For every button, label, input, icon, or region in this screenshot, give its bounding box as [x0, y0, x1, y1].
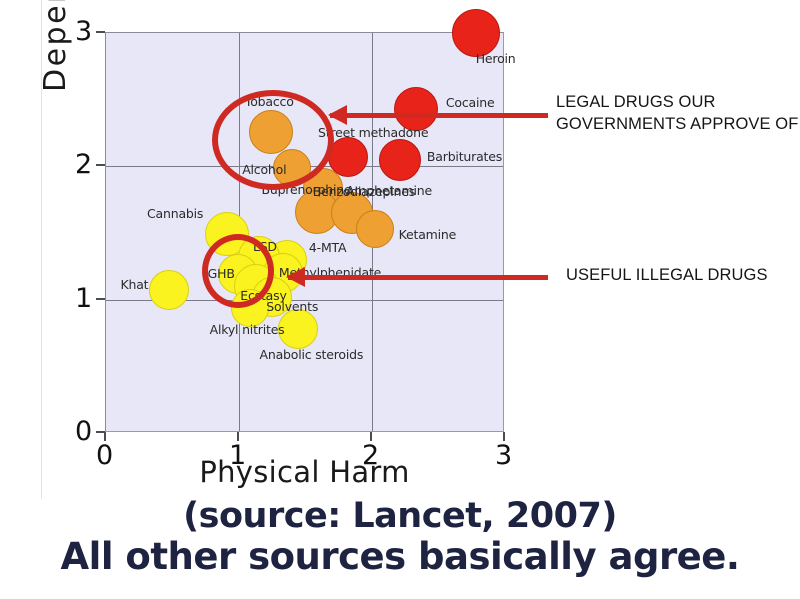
point-label-barbiturates: Barbiturates — [427, 151, 502, 164]
bubble-barbiturates — [379, 139, 421, 181]
point-label-4-mta: 4-MTA — [309, 242, 346, 255]
point-label-street-methadone: Street methadone — [318, 127, 428, 140]
useful-illegal-drugs-annotation-text: USEFUL ILLEGAL DRUGS — [566, 265, 768, 287]
legal-drugs-annotation-text: LEGAL DRUGS OUR GOVERNMENTS APPROVE OF — [556, 92, 798, 136]
caption-block: (source: Lancet, 2007) All other sources… — [0, 497, 800, 578]
legal-drugs-annotation-arrow-head — [328, 105, 347, 125]
scatter-plot-area: HeroinCocaineStreet methadoneBarbiturate… — [105, 32, 504, 432]
point-label-solvents: Solvents — [266, 301, 318, 314]
y-tick-label-2: 2 — [75, 151, 92, 178]
point-label-alkyl-nitrites: Alkyl nitrites — [210, 324, 285, 337]
point-label-ketamine: Ketamine — [399, 229, 457, 242]
caption-line-source: (source: Lancet, 2007) — [0, 497, 800, 536]
y-tick-label-0: 0 — [75, 418, 92, 445]
y-tick-1 — [96, 298, 105, 300]
useful-illegal-drugs-annotation-circle — [202, 234, 274, 308]
x-axis-title: Physical Harm — [105, 455, 504, 489]
legal-drugs-annotation-circle — [212, 90, 334, 190]
point-label-cannabis: Cannabis — [147, 208, 203, 221]
useful-illegal-drugs-annotation-arrow-head — [286, 267, 305, 287]
y-tick-label-1: 1 — [75, 285, 92, 312]
bubble-khat — [149, 270, 189, 310]
slide-canvas: HeroinCocaineStreet methadoneBarbiturate… — [0, 0, 800, 599]
point-label-amphetamine: Amphetamine — [346, 185, 432, 198]
y-tick-0 — [96, 431, 105, 433]
y-axis-title: Dependence — [38, 0, 73, 92]
caption-line-agree: All other sources basically agree. — [0, 536, 800, 577]
y-tick-label-3: 3 — [75, 18, 92, 45]
y-tick-2 — [96, 164, 105, 166]
point-label-cocaine: Cocaine — [446, 97, 495, 110]
point-label-heroin: Heroin — [476, 53, 516, 66]
point-label-khat: Khat — [121, 279, 149, 292]
bubble-ketamine — [356, 210, 394, 248]
point-label-anabolic-steroids: Anabolic steroids — [260, 349, 364, 362]
useful-illegal-drugs-annotation-arrow-shaft — [288, 275, 548, 280]
legal-drugs-annotation-arrow-shaft — [330, 113, 548, 118]
y-tick-3 — [96, 31, 105, 33]
bubble-heroin — [452, 9, 500, 57]
